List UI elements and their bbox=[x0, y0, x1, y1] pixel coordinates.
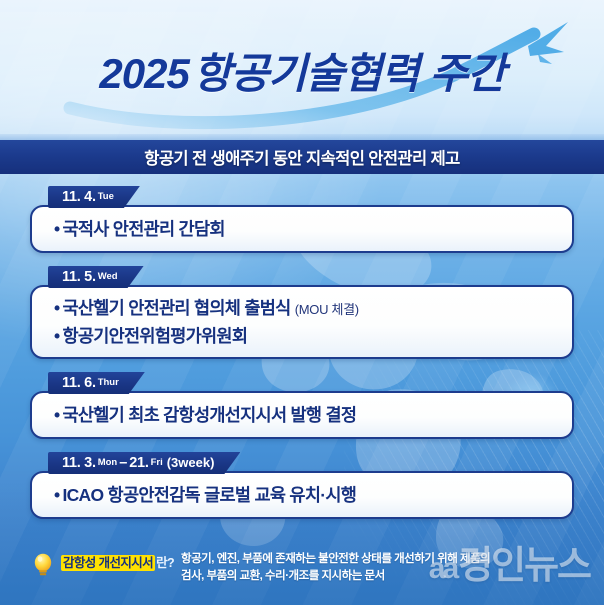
footnote-desc-line2: 검사, 부품의 교환, 수리·개조를 지시하는 문서 bbox=[181, 570, 385, 582]
event-text: 국산헬기 최초 감항성개선지시서 발행 결정 bbox=[62, 405, 356, 425]
weekday-label: Mon bbox=[98, 457, 118, 468]
date-tab: 11. 4.Tue bbox=[48, 186, 140, 208]
bullet-icon: • bbox=[54, 326, 59, 346]
date-label: 11. 4. bbox=[62, 189, 96, 205]
event-card[interactable]: •ICAO 항공안전감독 글로벌 교육 유치·시행 bbox=[30, 471, 574, 519]
schedule-block: 11. 6.Thur •국산헬기 최초 감항성개선지시서 발행 결정 bbox=[30, 372, 574, 439]
event-line: •ICAO 항공안전감독 글로벌 교육 유치·시행 bbox=[54, 482, 556, 508]
subtitle-text: 항공기 전 생애주기 동안 지속적인 안전관리 제고 bbox=[144, 145, 460, 169]
title-main: 항공기술협력 주간 bbox=[193, 50, 505, 97]
schedule-block: 11. 3.Mon–21.Fri(3week) •ICAO 항공안전감독 글로벌… bbox=[30, 452, 574, 519]
poster-header: 2025항공기술협력 주간 bbox=[0, 0, 604, 140]
bullet-icon: • bbox=[54, 405, 59, 425]
date-label: 11. 5. bbox=[62, 269, 96, 285]
date-range-separator: – bbox=[119, 455, 127, 471]
footnote-body: 감항성 개선지시서란? 항공기, 엔진, 부품에 존재하는 불안전한 상태를 개… bbox=[61, 551, 490, 585]
title-year: 2025 bbox=[99, 50, 188, 97]
lightbulb-icon bbox=[32, 552, 54, 578]
event-line: •항공기안전위험평가위원회 bbox=[54, 323, 556, 349]
schedule-block: 11. 5.Wed •국산헬기 안전관리 협의체 출범식 (MOU 체결) •항… bbox=[30, 266, 574, 359]
date-end-label: 21. bbox=[129, 455, 148, 471]
date-tab: 11. 6.Thur bbox=[48, 372, 145, 394]
footnote-description: 항공기, 엔진, 부품에 존재하는 불안전한 상태를 개선하기 위해 제품의 검… bbox=[181, 551, 490, 585]
event-text: 국산헬기 안전관리 협의체 출범식 bbox=[62, 298, 290, 318]
poster-root: 2025항공기술협력 주간 항공기 전 생애주기 동안 지속적인 안전관리 제고… bbox=[0, 0, 604, 605]
event-line: •국산헬기 안전관리 협의체 출범식 (MOU 체결) bbox=[54, 295, 556, 323]
bullet-icon: • bbox=[54, 485, 59, 505]
event-card[interactable]: •국산헬기 최초 감항성개선지시서 발행 결정 bbox=[30, 391, 574, 439]
weekday-label: Wed bbox=[98, 271, 118, 282]
event-text: 국적사 안전관리 간담회 bbox=[62, 219, 224, 239]
bullet-icon: • bbox=[54, 298, 59, 318]
weekday-label: Tue bbox=[98, 191, 114, 202]
footnote-term-highlight: 감항성 개선지시서 bbox=[61, 555, 155, 571]
event-line: •국적사 안전관리 간담회 bbox=[54, 216, 556, 242]
event-note: (MOU 체결) bbox=[295, 302, 359, 317]
footnote-desc-line1: 항공기, 엔진, 부품에 존재하는 불안전한 상태를 개선하기 위해 제품의 bbox=[181, 553, 490, 565]
schedule-list: 11. 4.Tue •국적사 안전관리 간담회 11. 5.Wed •국산헬기 … bbox=[0, 186, 604, 532]
date-label: 11. 6. bbox=[62, 375, 96, 391]
date-tab: 11. 3.Mon–21.Fri(3week) bbox=[48, 452, 240, 474]
page-title: 2025항공기술협력 주간 bbox=[0, 40, 604, 101]
date-label: 11. 3. bbox=[62, 455, 96, 471]
footnote: 감항성 개선지시서란? 항공기, 엔진, 부품에 존재하는 불안전한 상태를 개… bbox=[32, 551, 592, 585]
schedule-block: 11. 4.Tue •국적사 안전관리 간담회 bbox=[30, 186, 574, 253]
event-card[interactable]: •국산헬기 안전관리 협의체 출범식 (MOU 체결) •항공기안전위험평가위원… bbox=[30, 285, 574, 359]
weekday-end-label: Fri bbox=[151, 457, 163, 468]
event-card[interactable]: •국적사 안전관리 간담회 bbox=[30, 205, 574, 253]
bullet-icon: • bbox=[54, 219, 59, 239]
event-text: ICAO 항공안전감독 글로벌 교육 유치·시행 bbox=[62, 485, 356, 505]
date-tab: 11. 5.Wed bbox=[48, 266, 144, 288]
footnote-term: 감항성 개선지시서란? bbox=[61, 552, 174, 571]
event-text: 항공기안전위험평가위원회 bbox=[62, 326, 247, 346]
subtitle-band: 항공기 전 생애주기 동안 지속적인 안전관리 제고 bbox=[0, 140, 604, 174]
event-line: •국산헬기 최초 감항성개선지시서 발행 결정 bbox=[54, 402, 556, 428]
duration-label: (3week) bbox=[167, 455, 215, 470]
footnote-term-suffix: 란? bbox=[156, 556, 174, 570]
weekday-label: Thur bbox=[98, 377, 119, 388]
